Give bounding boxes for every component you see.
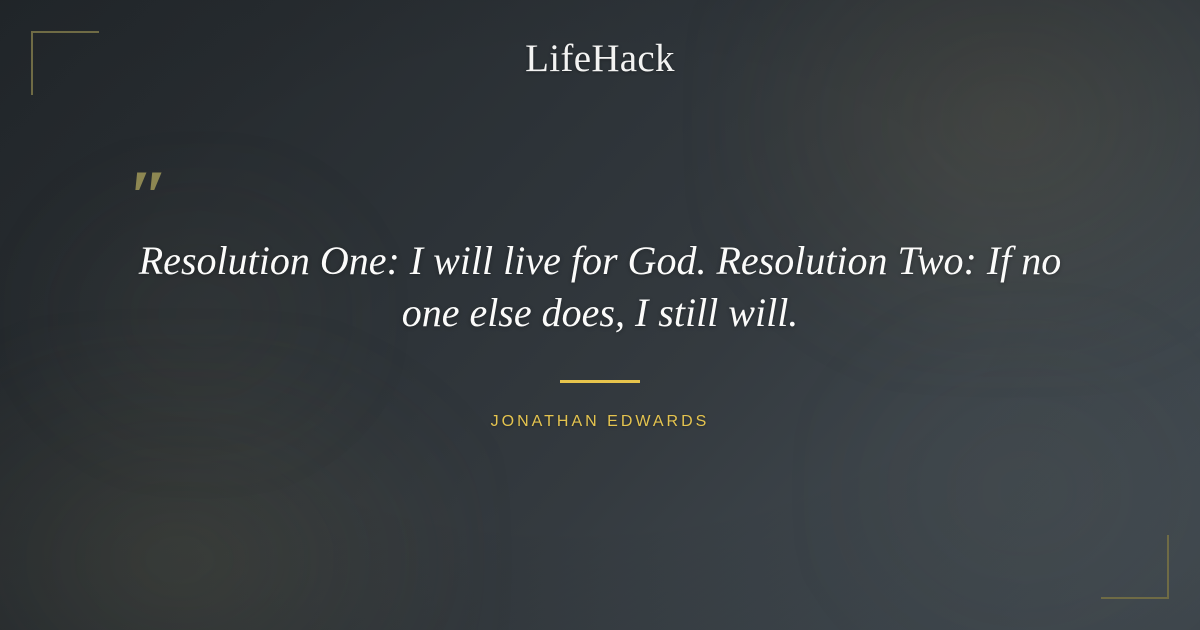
gold-divider	[560, 380, 640, 383]
quote-card: LifeHack ″ Resolution One: I will live f…	[0, 0, 1200, 630]
brand-logo: LifeHack	[0, 39, 1200, 78]
quote-author: JONATHAN EDWARDS	[0, 413, 1200, 431]
quotation-mark-icon: ″	[128, 160, 171, 234]
quote-text: Resolution One: I will live for God. Res…	[110, 235, 1090, 339]
